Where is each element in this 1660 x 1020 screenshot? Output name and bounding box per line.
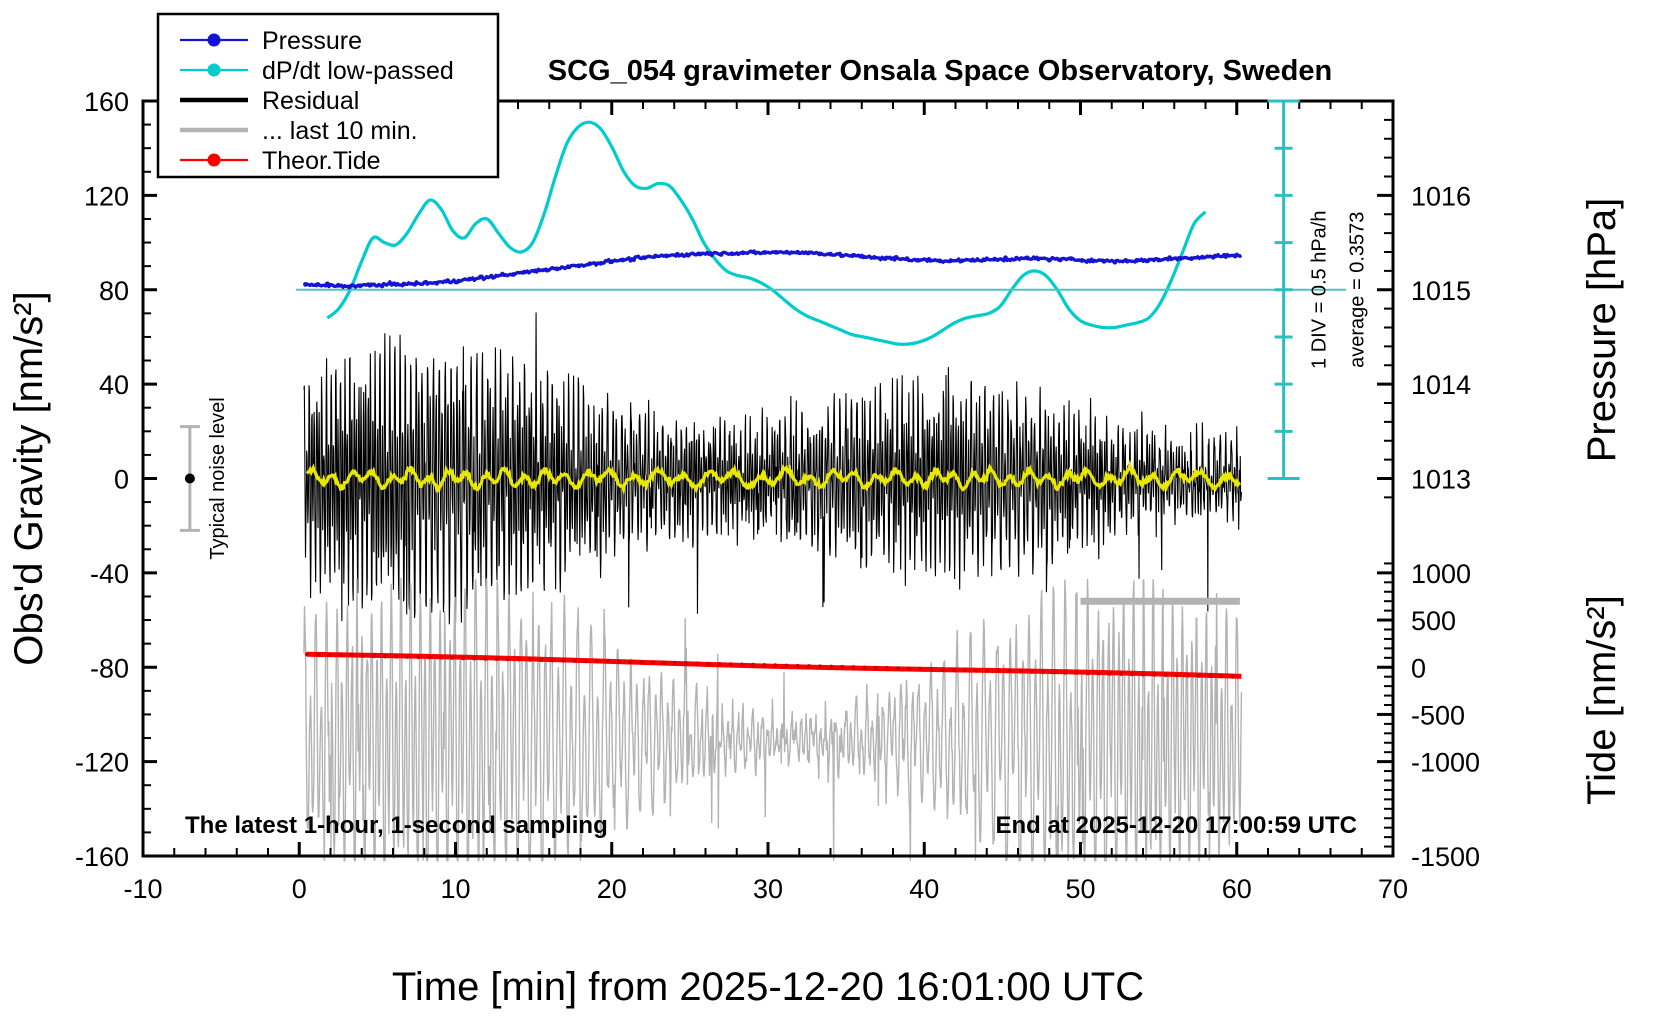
pressure-point bbox=[566, 264, 571, 269]
tide-point bbox=[305, 652, 309, 656]
x-tick-label: 50 bbox=[1065, 874, 1095, 904]
tide-point bbox=[461, 656, 465, 660]
tide-point bbox=[1208, 674, 1212, 678]
legend-label: ... last 10 min. bbox=[262, 117, 418, 145]
pressure-point bbox=[850, 253, 855, 258]
tide-point bbox=[1163, 673, 1167, 677]
pressure-point bbox=[478, 275, 483, 280]
tide-point bbox=[1074, 671, 1078, 675]
x-tick-label: 30 bbox=[753, 874, 783, 904]
tide-point bbox=[795, 664, 799, 668]
tide-point bbox=[784, 664, 788, 668]
tide-tick-label: 1000 bbox=[1411, 559, 1471, 589]
pressure-axis-title: Pressure [hPa] bbox=[1580, 198, 1624, 463]
tide-point bbox=[807, 664, 811, 668]
pressure-point bbox=[500, 272, 505, 277]
tide-point bbox=[628, 660, 632, 664]
pressure-point bbox=[445, 278, 450, 283]
pressure-point bbox=[1003, 255, 1008, 260]
tide-point bbox=[494, 657, 498, 661]
tide-tick-label: 0 bbox=[1411, 653, 1426, 683]
tide-point bbox=[706, 662, 710, 666]
tide-tick-label: -1500 bbox=[1411, 842, 1480, 872]
pressure-point bbox=[1058, 258, 1063, 263]
gravity-time-series-chart: -1001020304050607016012080400-40-80-120-… bbox=[0, 0, 1660, 1020]
y-tick-label: 40 bbox=[99, 370, 129, 400]
tide-point bbox=[773, 663, 777, 667]
tide-point bbox=[1230, 674, 1234, 678]
pressure-point bbox=[1025, 256, 1030, 261]
tide-point bbox=[729, 662, 733, 666]
tide-point bbox=[751, 663, 755, 667]
pressure-point bbox=[587, 261, 592, 266]
pressure-point bbox=[916, 258, 921, 263]
pressure-point bbox=[577, 263, 582, 268]
pressure-point bbox=[423, 280, 428, 285]
sampling-note: The latest 1-hour, 1-second sampling bbox=[185, 812, 608, 839]
tide-point bbox=[1152, 672, 1156, 676]
pressure-point bbox=[1123, 258, 1128, 263]
pressure-point bbox=[467, 277, 472, 282]
pressure-point bbox=[1145, 258, 1150, 263]
pressure-point bbox=[773, 250, 778, 255]
tide-point bbox=[896, 666, 900, 670]
pressure-point bbox=[839, 253, 844, 258]
tide-point bbox=[1108, 671, 1112, 675]
pressure-point bbox=[358, 283, 363, 288]
pressure-point bbox=[883, 256, 888, 261]
pressure-point bbox=[489, 274, 494, 279]
pressure-point bbox=[412, 282, 417, 287]
pressure-point bbox=[511, 272, 516, 277]
pressure-point bbox=[1134, 258, 1139, 263]
pressure-point bbox=[1112, 260, 1117, 265]
tide-point bbox=[1119, 672, 1123, 676]
tide-point bbox=[617, 660, 621, 664]
typical-noise-label: Typical noise level bbox=[207, 397, 229, 559]
y-axis-title: Obs'd Gravity [nm/s²] bbox=[7, 291, 51, 665]
pressure-point bbox=[675, 252, 680, 257]
pressure-point bbox=[380, 284, 385, 289]
pressure-point bbox=[795, 250, 800, 255]
tide-point bbox=[483, 656, 487, 660]
pressure-point bbox=[303, 282, 308, 287]
pressure-point bbox=[752, 249, 757, 254]
tide-point bbox=[1197, 673, 1201, 677]
x-tick-label: 60 bbox=[1222, 874, 1252, 904]
legend-label: Pressure bbox=[262, 27, 362, 55]
tide-point bbox=[528, 657, 532, 661]
tide-point bbox=[361, 653, 365, 657]
x-tick-label: -10 bbox=[123, 874, 162, 904]
tide-tick-label: 500 bbox=[1411, 606, 1456, 636]
legend-label: Theor.Tide bbox=[262, 147, 381, 175]
tide-point bbox=[1063, 670, 1067, 674]
y-tick-label: 120 bbox=[84, 181, 129, 211]
pressure-point bbox=[970, 258, 975, 263]
pressure-point bbox=[861, 254, 866, 259]
legend-marker-dot bbox=[208, 64, 221, 77]
pressure-tick-label: 1015 bbox=[1411, 276, 1471, 306]
tide-point bbox=[985, 668, 989, 672]
gravimeter-plot-page: -1001020304050607016012080400-40-80-120-… bbox=[0, 0, 1660, 1020]
tide-point bbox=[1186, 673, 1190, 677]
tide-point bbox=[840, 665, 844, 669]
tide-point bbox=[717, 662, 721, 666]
tide-point bbox=[372, 654, 376, 658]
tide-point bbox=[572, 658, 576, 662]
pressure-point bbox=[1069, 256, 1074, 261]
pressure-point bbox=[533, 268, 538, 273]
pressure-point bbox=[522, 270, 527, 275]
tide-point bbox=[1219, 674, 1223, 678]
tide-point bbox=[595, 659, 599, 663]
pressure-point bbox=[1080, 258, 1085, 263]
pressure-point bbox=[369, 282, 374, 287]
tide-tick-label: -1000 bbox=[1411, 748, 1480, 778]
pressure-point bbox=[817, 252, 822, 257]
tide-point bbox=[918, 667, 922, 671]
pressure-point bbox=[697, 252, 702, 257]
tide-point bbox=[1175, 673, 1179, 677]
tide-point bbox=[1007, 669, 1011, 673]
y-tick-label: 80 bbox=[99, 276, 129, 306]
y-tick-label: -80 bbox=[90, 653, 129, 683]
pressure-point bbox=[708, 251, 713, 256]
pressure-point bbox=[402, 282, 407, 287]
pressure-point bbox=[872, 255, 877, 260]
legend-label: dP/dt low-passed bbox=[262, 57, 454, 85]
dpdt-division-label: 1 DIV = 0.5 hPa/h bbox=[1309, 211, 1331, 369]
tide-point bbox=[662, 661, 666, 665]
pressure-point bbox=[653, 254, 658, 259]
tide-point bbox=[383, 654, 387, 658]
tide-point bbox=[416, 655, 420, 659]
pressure-point bbox=[828, 252, 833, 257]
pressure-point bbox=[981, 257, 986, 262]
pressure-tick-label: 1013 bbox=[1411, 465, 1471, 495]
tide-point bbox=[673, 661, 677, 665]
pressure-point bbox=[314, 283, 319, 288]
x-tick-label: 10 bbox=[440, 874, 470, 904]
pressure-point bbox=[959, 258, 964, 263]
pressure-point bbox=[631, 257, 636, 262]
tide-point bbox=[695, 661, 699, 665]
tide-point bbox=[561, 658, 565, 662]
pressure-point bbox=[1222, 253, 1227, 258]
legend-label: Residual bbox=[262, 87, 359, 115]
pressure-point bbox=[1200, 255, 1205, 260]
tide-axis-title: Tide [nm/s²] bbox=[1580, 595, 1624, 805]
tide-point bbox=[428, 655, 432, 659]
x-axis-title: Time [min] from 2025-12-20 16:01:00 UTC bbox=[392, 965, 1144, 1009]
x-tick-label: 20 bbox=[597, 874, 627, 904]
pressure-point bbox=[762, 250, 767, 255]
tide-point bbox=[885, 666, 889, 670]
pressure-point bbox=[391, 282, 396, 287]
y-tick-label: -160 bbox=[75, 842, 129, 872]
pressure-point bbox=[1178, 256, 1183, 261]
tide-point bbox=[338, 653, 342, 657]
pressure-point bbox=[927, 257, 932, 262]
pressure-point bbox=[642, 255, 647, 260]
tide-point bbox=[829, 665, 833, 669]
tide-point bbox=[952, 668, 956, 672]
pressure-point bbox=[1167, 255, 1172, 260]
dpdt-average-label: average = 0.3573 bbox=[1347, 212, 1369, 368]
pressure-point bbox=[544, 268, 549, 273]
tide-point bbox=[818, 664, 822, 668]
y-tick-label: -120 bbox=[75, 748, 129, 778]
tide-point bbox=[762, 663, 766, 667]
tide-point bbox=[1030, 669, 1034, 673]
tide-point bbox=[963, 668, 967, 672]
tide-point bbox=[472, 656, 476, 660]
tide-point bbox=[405, 654, 409, 658]
tide-point bbox=[974, 668, 978, 672]
pressure-point bbox=[806, 250, 811, 255]
tide-point bbox=[907, 667, 911, 671]
pressure-point bbox=[1233, 254, 1238, 259]
chart-title: SCG_054 gravimeter Onsala Space Observat… bbox=[548, 55, 1332, 87]
pressure-point bbox=[937, 258, 942, 263]
tide-point bbox=[639, 660, 643, 664]
tide-point bbox=[316, 652, 320, 656]
pressure-point bbox=[609, 259, 614, 264]
tide-point bbox=[439, 655, 443, 659]
pressure-point bbox=[1189, 256, 1194, 261]
tide-point bbox=[539, 658, 543, 662]
pressure-point bbox=[325, 281, 330, 286]
pressure-point bbox=[336, 283, 341, 288]
pressure-point bbox=[1091, 259, 1096, 264]
x-tick-label: 0 bbox=[292, 874, 307, 904]
pressure-point bbox=[434, 281, 439, 286]
y-tick-label: -40 bbox=[90, 559, 129, 589]
pressure-point bbox=[1156, 258, 1161, 263]
tide-point bbox=[874, 666, 878, 670]
tide-point bbox=[996, 669, 1000, 673]
tide-point bbox=[940, 667, 944, 671]
pressure-point bbox=[1047, 258, 1052, 263]
tide-point bbox=[517, 657, 521, 661]
pressure-tick-label: 1016 bbox=[1411, 181, 1471, 211]
tide-point bbox=[1130, 672, 1134, 676]
pressure-point bbox=[1102, 259, 1107, 264]
pressure-point bbox=[719, 252, 724, 257]
tide-point bbox=[1141, 672, 1145, 676]
legend-marker-dot bbox=[208, 154, 221, 167]
pressure-point bbox=[1014, 256, 1019, 261]
pressure-point bbox=[948, 258, 953, 263]
x-tick-label: 40 bbox=[909, 874, 939, 904]
tide-point bbox=[1018, 669, 1022, 673]
tide-point bbox=[506, 657, 510, 661]
legend-group: PressuredP/dt low-passedResidual... last… bbox=[158, 14, 498, 177]
pressure-point bbox=[686, 253, 691, 258]
pressure-point bbox=[784, 250, 789, 255]
pressure-point bbox=[347, 285, 352, 290]
tide-point bbox=[651, 660, 655, 664]
tide-point bbox=[1097, 671, 1101, 675]
tide-point bbox=[349, 653, 353, 657]
pressure-point bbox=[1036, 257, 1041, 262]
tide-point bbox=[851, 665, 855, 669]
pressure-point bbox=[730, 251, 735, 256]
tide-point bbox=[1041, 670, 1045, 674]
tide-point bbox=[862, 665, 866, 669]
tide-point bbox=[450, 656, 454, 660]
pressure-point bbox=[555, 266, 560, 271]
tide-point bbox=[584, 659, 588, 663]
tide-point bbox=[1052, 670, 1056, 674]
pressure-point bbox=[894, 255, 899, 260]
tide-point bbox=[684, 661, 688, 665]
tide-point bbox=[1085, 671, 1089, 675]
pressure-point bbox=[741, 250, 746, 255]
tide-point bbox=[740, 663, 744, 667]
tide-point bbox=[929, 667, 933, 671]
end-time-note: End at 2025-12-20 17:00:59 UTC bbox=[996, 812, 1358, 839]
y-tick-label: 0 bbox=[114, 465, 129, 495]
tide-point bbox=[550, 658, 554, 662]
x-tick-label: 70 bbox=[1378, 874, 1408, 904]
pressure-point bbox=[905, 256, 910, 261]
pressure-point bbox=[664, 254, 669, 259]
tide-point bbox=[394, 654, 398, 658]
tide-point bbox=[606, 659, 610, 663]
pressure-point bbox=[620, 258, 625, 263]
pressure-tick-label: 1014 bbox=[1411, 370, 1471, 400]
pressure-point bbox=[992, 257, 997, 262]
pressure-point bbox=[598, 261, 603, 266]
pressure-point bbox=[1211, 255, 1216, 260]
y-tick-label: 160 bbox=[84, 87, 129, 117]
tide-tick-label: -500 bbox=[1411, 700, 1465, 730]
legend-marker-dot bbox=[208, 34, 221, 47]
pressure-point bbox=[456, 279, 461, 284]
tide-point bbox=[327, 653, 331, 657]
